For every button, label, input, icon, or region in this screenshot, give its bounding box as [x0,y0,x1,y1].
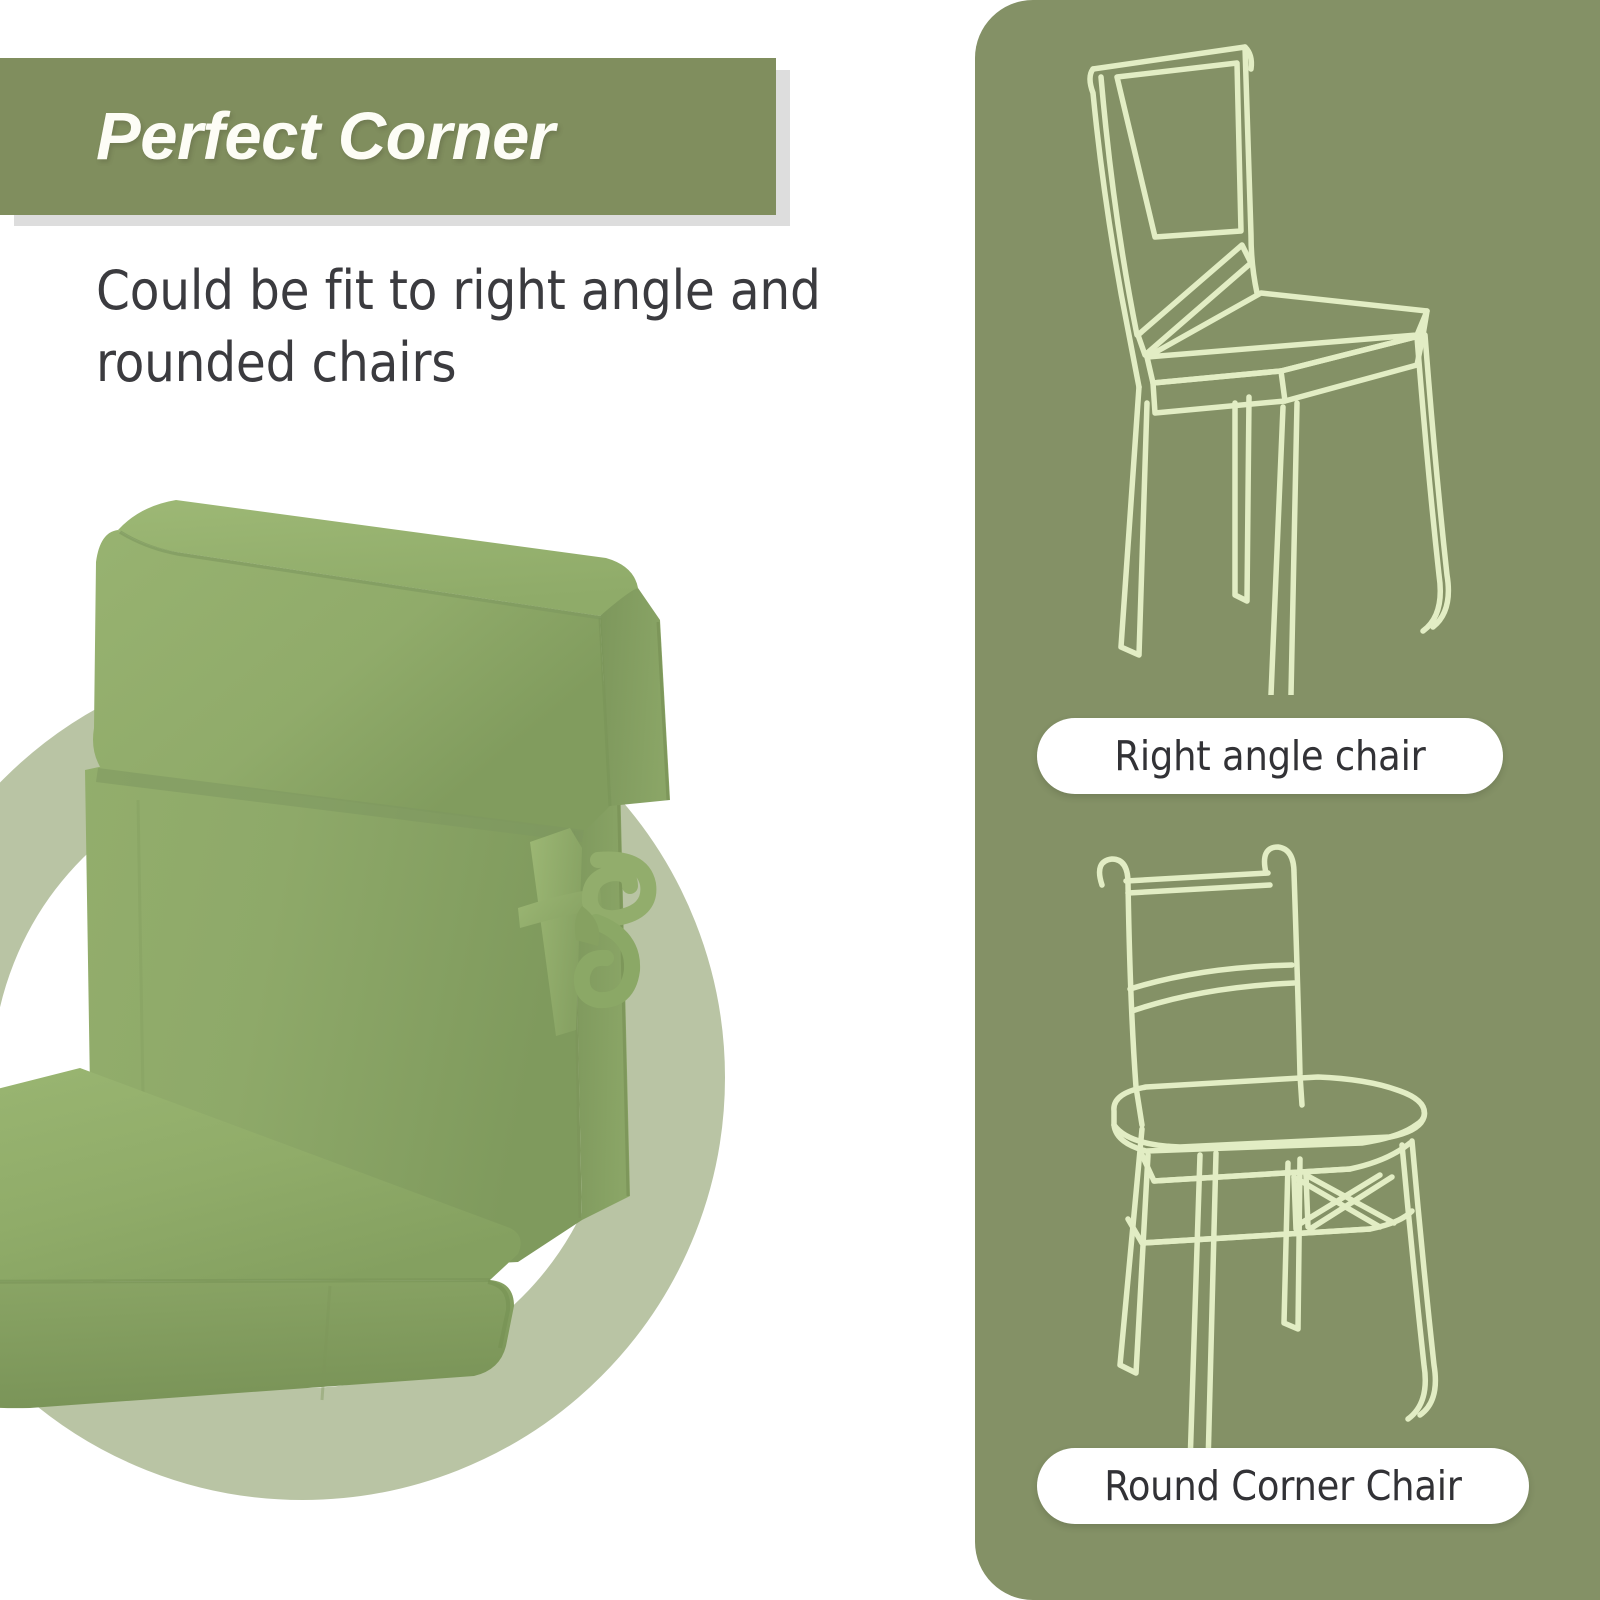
label-right-angle-chair: Right angle chair [1114,732,1425,780]
round-corner-chair-line-art [1050,825,1480,1465]
product-image-cushion [0,470,690,1530]
label-pill-right-angle-chair: Right angle chair [1037,718,1503,794]
page-title: Perfect Corner [0,98,554,175]
cushion-headrest-side [600,588,670,806]
label-round-corner-chair: Round Corner Chair [1104,1462,1462,1510]
right-illustration-panel: Right angle chair [975,0,1600,1600]
right-angle-chair-line-art [1035,35,1455,695]
label-pill-round-corner-chair: Round Corner Chair [1037,1448,1529,1524]
subtitle-text: Could be fit to right angle and rounded … [96,255,916,399]
title-banner: Perfect Corner [0,58,776,215]
left-content-panel: Perfect Corner Could be fit to right ang… [0,0,975,1600]
cushion-seat-front [0,1280,514,1408]
